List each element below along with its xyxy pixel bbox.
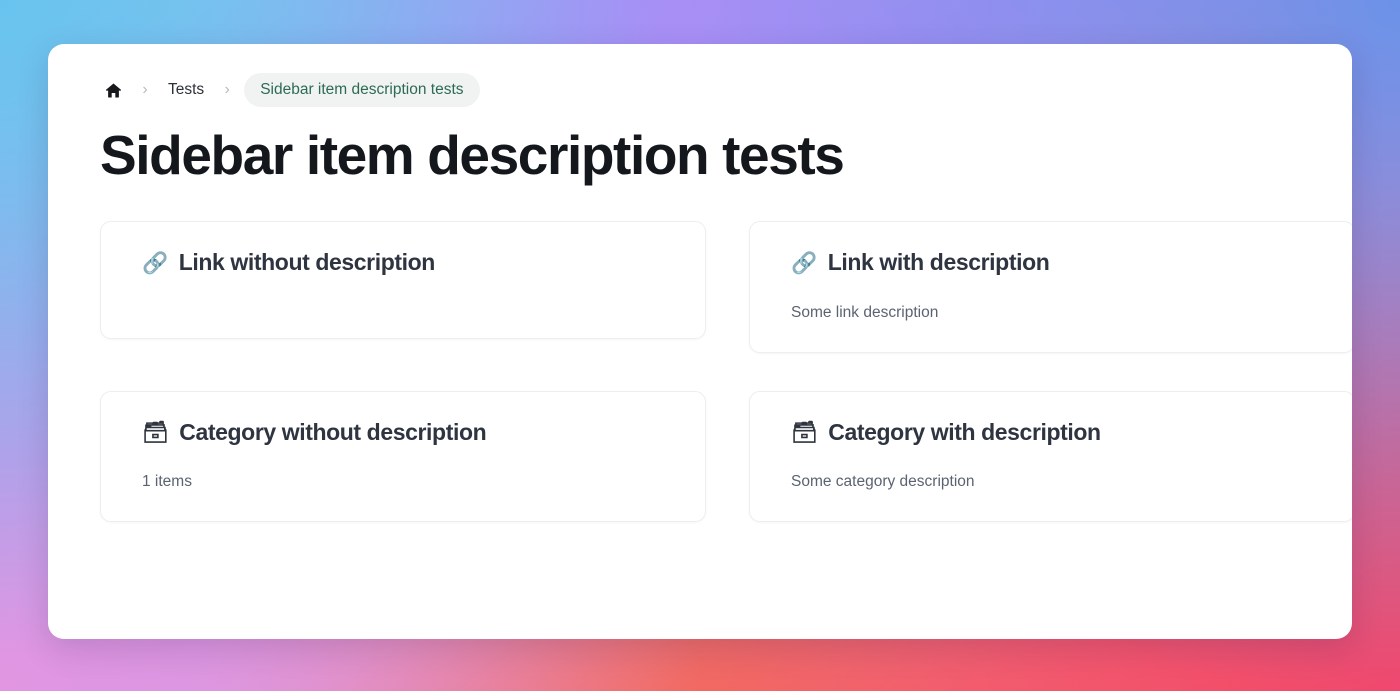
breadcrumb-item-tests[interactable]: Tests <box>162 77 210 103</box>
card-description: Some category description <box>791 471 1313 493</box>
card-title-label: Link without description <box>179 249 435 277</box>
card-file-box-icon: 🗃 <box>791 422 817 443</box>
breadcrumb-separator-1: › <box>130 75 160 105</box>
link-icon: 🔗 <box>142 253 168 274</box>
home-icon[interactable] <box>98 75 128 105</box>
card-item-count: 1 items <box>142 471 664 493</box>
card-title-label: Category without description <box>179 419 486 447</box>
card-title: 🗃 Category with description <box>791 419 1313 447</box>
card-grid: 🔗 Link without description 🔗 Link with d… <box>76 221 1324 522</box>
breadcrumb-separator-2: › <box>212 75 242 105</box>
panel-content: › Tests › Sidebar item description tests… <box>48 44 1352 522</box>
card-category-without-description[interactable]: 🗃 Category without description 1 items <box>100 391 706 522</box>
link-icon: 🔗 <box>791 253 817 274</box>
page-title: Sidebar item description tests <box>100 126 1324 185</box>
breadcrumb-item-current: Sidebar item description tests <box>244 73 479 107</box>
card-link-with-description[interactable]: 🔗 Link with description Some link descri… <box>749 221 1352 352</box>
card-title: 🔗 Link without description <box>142 249 664 277</box>
card-description: Some link description <box>791 302 1313 324</box>
card-category-with-description[interactable]: 🗃 Category with description Some categor… <box>749 391 1352 522</box>
card-title: 🗃 Category without description <box>142 419 664 447</box>
card-file-box-icon: 🗃 <box>142 422 168 443</box>
card-title-label: Category with description <box>828 419 1100 447</box>
breadcrumb: › Tests › Sidebar item description tests <box>76 72 1324 108</box>
card-link-without-description[interactable]: 🔗 Link without description <box>100 221 706 339</box>
main-panel: › Tests › Sidebar item description tests… <box>48 44 1352 639</box>
card-title-label: Link with description <box>828 249 1050 277</box>
card-title: 🔗 Link with description <box>791 249 1313 277</box>
